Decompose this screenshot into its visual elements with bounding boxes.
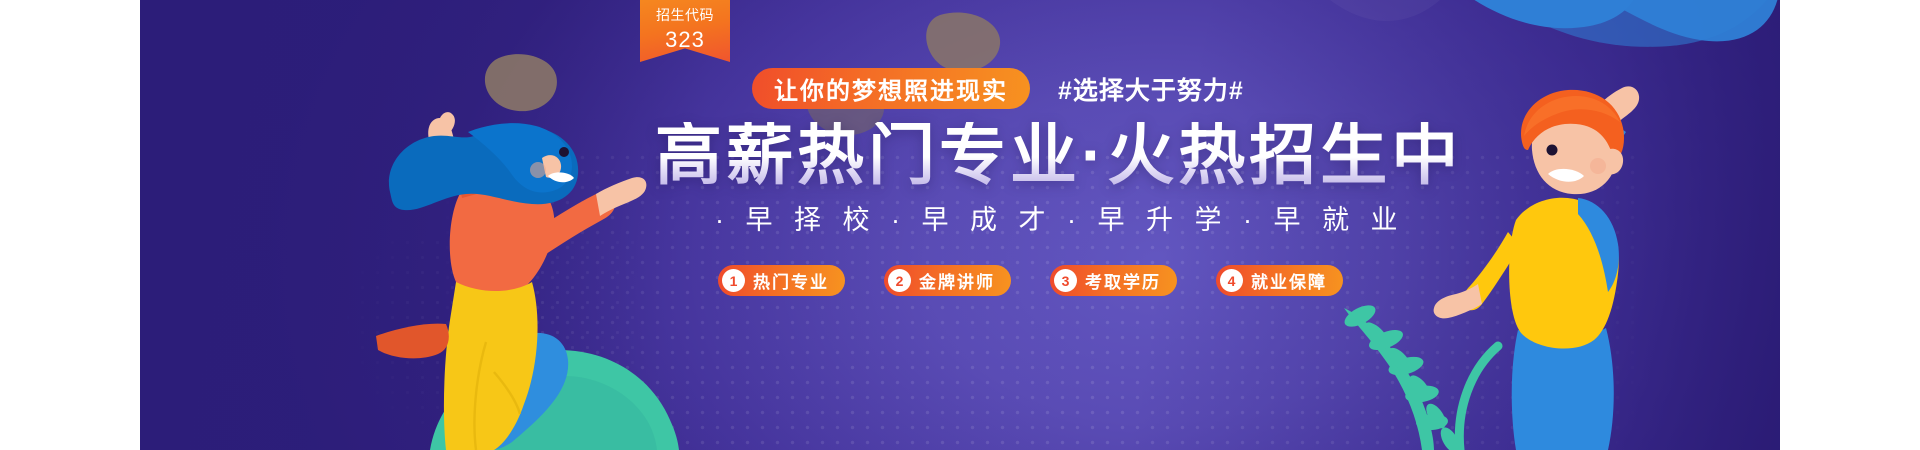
- feature-badge[interactable]: 4 就业保障: [1216, 265, 1343, 296]
- feature-badge-number: 2: [888, 269, 911, 292]
- banner-canvas: 招生代码 323 让你的梦想照进现实 #选择大于努力# 高薪热门专业·火热招生中…: [140, 0, 1780, 450]
- tagline-hashtag: #选择大于努力#: [1058, 71, 1244, 107]
- headline: 高薪热门专业·火热招生中: [655, 122, 1462, 189]
- feature-badge-label: 金牌讲师: [919, 268, 995, 293]
- tagline-row: 让你的梦想照进现实 #选择大于努力#: [752, 68, 1244, 109]
- feature-badge[interactable]: 1 热门专业: [718, 265, 845, 296]
- feature-badge[interactable]: 2 金牌讲师: [884, 265, 1011, 296]
- subtitle: · 早 择 校 · 早 成 才 · 早 升 学 · 早 就 业: [715, 207, 1405, 234]
- dot-pattern: [440, 150, 1640, 450]
- banner-root: 招生代码 323 让你的梦想照进现实 #选择大于努力# 高薪热门专业·火热招生中…: [0, 0, 1920, 450]
- feature-badge-label: 热门专业: [753, 268, 829, 293]
- feature-badge-label: 考取学历: [1085, 268, 1161, 293]
- tagline-pill: 让你的梦想照进现实: [752, 68, 1030, 109]
- feature-badge-label: 就业保障: [1251, 268, 1327, 293]
- feature-badge-list: 1 热门专业 2 金牌讲师 3 考取学历 4 就业保障: [718, 265, 1343, 296]
- ribbon-title: 招生代码: [640, 0, 730, 22]
- feature-badge-number: 1: [722, 269, 745, 292]
- feature-badge[interactable]: 3 考取学历: [1050, 265, 1177, 296]
- feature-badge-number: 3: [1054, 269, 1077, 292]
- feature-badge-number: 4: [1220, 269, 1243, 292]
- ribbon-code: 323: [640, 22, 730, 51]
